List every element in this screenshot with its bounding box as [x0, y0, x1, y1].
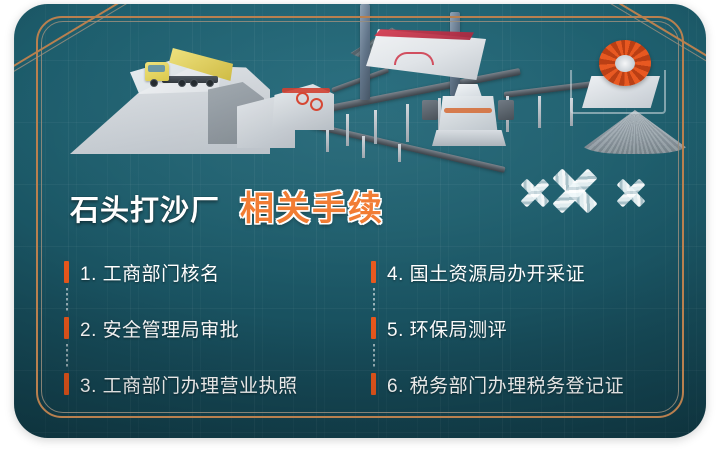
copper-frame-inner [41, 21, 679, 413]
poster-panel: 石头打沙厂 相关手续 1. 工商部门核名 2. [14, 4, 706, 438]
poster-root: 石头打沙厂 相关手续 1. 工商部门核名 2. [0, 0, 720, 450]
